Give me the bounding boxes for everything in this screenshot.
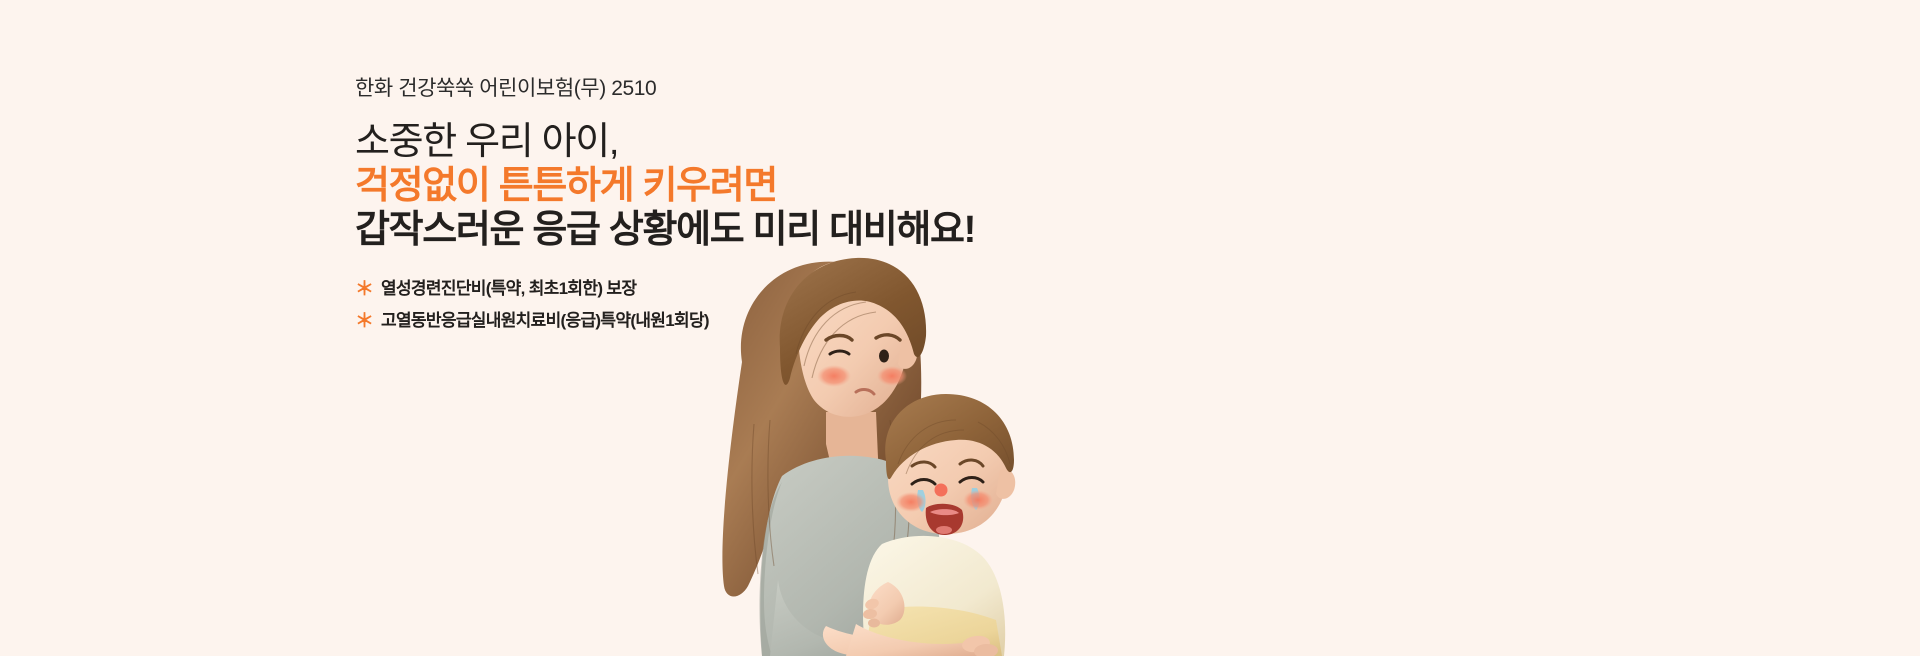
mother-cheek-left xyxy=(817,365,851,387)
mother-holding-crying-child-illustration xyxy=(630,244,1060,656)
mother-eye-right xyxy=(879,350,889,363)
asterisk-icon: ＊ xyxy=(355,311,374,333)
headline: 소중한 우리 아이, 걱정없이 튼튼하게 키우려면 갑작스러운 응급 상황에도 … xyxy=(355,120,1115,252)
fever-nose-dot xyxy=(935,484,948,497)
benefit-label: 열성경련진단비(특약, 최초1회한) 보장 xyxy=(381,278,636,300)
child-cheek-left xyxy=(896,492,926,512)
headline-line-1: 소중한 우리 아이, xyxy=(355,120,1115,164)
mother-cheek-right xyxy=(877,366,907,386)
insurance-promo-banner: 한화 건강쑥쑥 어린이보험(무) 2510 소중한 우리 아이, 걱정없이 튼튼… xyxy=(0,0,1920,656)
asterisk-icon: ＊ xyxy=(355,279,374,301)
product-name: 한화 건강쑥쑥 어린이보험(무) 2510 xyxy=(355,74,1115,103)
headline-line-2: 걱정없이 튼튼하게 키우려면 xyxy=(355,164,1115,208)
child-cheek-right xyxy=(963,490,993,510)
child-tongue xyxy=(936,526,952,534)
